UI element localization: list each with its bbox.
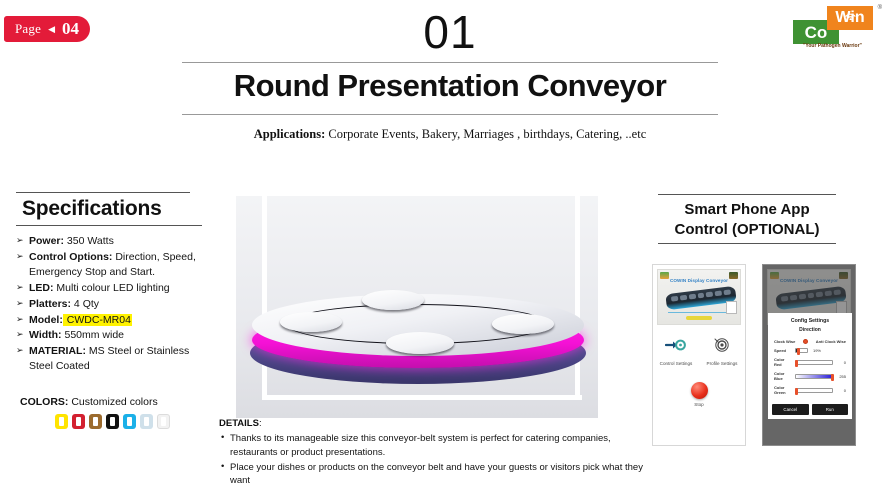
details-list: •Thanks to its manageable size this conv… [219, 432, 643, 488]
banner-qr-icon [726, 301, 737, 314]
config-slider-label: Speed [774, 348, 793, 353]
color-swatch[interactable] [55, 414, 68, 429]
app-section-heading: Smart Phone App Control (OPTIONAL) [658, 194, 836, 244]
modal-button-row: Cancel Run [772, 404, 848, 415]
specification-label: Model: [29, 314, 63, 326]
specification-value: 4 Qty [71, 298, 99, 310]
specification-label: Platters: [29, 298, 71, 310]
specification-label: MATERIAL: [29, 345, 86, 357]
specification-label: LED: [29, 282, 54, 294]
details-item: •Place your dishes or products on the co… [219, 461, 643, 489]
config-settings-modal: Config Settings Direction Clock Wise Ant… [768, 313, 852, 419]
profile-settings-label: Profile Settings [699, 361, 745, 366]
color-swatch-inner [59, 417, 64, 426]
arrow-bullet-icon: ➢ [16, 297, 24, 310]
page-badge-word: Page [15, 21, 41, 37]
page-title: Round Presentation Conveyor [180, 63, 720, 108]
prev-page-arrow-icon[interactable]: ◀ [48, 25, 55, 34]
logo-tagline: "Your Pathogen Warrior" [803, 43, 862, 49]
config-slider-row: Speed19% [772, 348, 848, 353]
specification-item: ➢Platters: 4 Qty [16, 297, 212, 312]
color-swatch[interactable] [123, 414, 136, 429]
conveyor-platter [386, 332, 454, 354]
clockwise-label[interactable]: Clock Wise [774, 339, 795, 344]
app-banner: COWIN Display Conveyor [657, 269, 741, 325]
color-swatch[interactable] [72, 414, 85, 429]
specification-item: ➢MATERIAL: MS Steel or Stainless Steel C… [16, 344, 212, 374]
applications-value: Corporate Events, Bakery, Marriages , bi… [328, 127, 646, 141]
config-slider-label: Color Red [774, 357, 793, 367]
details-colon: : [259, 418, 262, 429]
bullet-icon: • [221, 460, 224, 474]
conveyor-platter [362, 290, 424, 310]
colors-line: COLORS: Customized colors [20, 396, 220, 408]
page-badge-number: 04 [62, 19, 79, 39]
arrow-into-gear-icon [665, 340, 687, 357]
config-slider-knob[interactable] [831, 374, 834, 381]
specification-value: 550mm wide [62, 329, 124, 341]
arrow-bullet-icon: ➢ [16, 313, 24, 326]
specification-item: ➢Control Options: Direction, Speed, Emer… [16, 250, 212, 280]
config-slider-row: Color Green0 [772, 385, 848, 395]
config-slider-value: 0 [835, 388, 846, 393]
arrow-bullet-icon: ➢ [16, 281, 24, 294]
app-tile-row: Control Settings Profile Settings [653, 333, 745, 368]
color-swatch[interactable] [157, 414, 170, 429]
config-slider-value: 255 [835, 374, 846, 379]
colors-section: COLORS: Customized colors [20, 396, 220, 429]
bullet-icon: • [221, 431, 224, 445]
specifications-rule-bottom [16, 225, 202, 226]
registered-trademark-icon: ® [878, 5, 882, 11]
color-swatch-inner [161, 417, 166, 426]
app-banner-title: COWIN Display Conveyor [658, 278, 740, 283]
stop-button-label: Stop [653, 402, 745, 407]
color-swatch-inner [110, 417, 115, 426]
config-slider-label: Color Green [774, 385, 793, 395]
color-swatch[interactable] [89, 414, 102, 429]
config-slider-track[interactable] [795, 388, 833, 393]
config-slider-label: Color Blue [774, 371, 793, 381]
config-slider-row: Color Blue255 [772, 371, 848, 381]
specifications-panel: Specifications ➢Power: 350 Watts➢Control… [16, 192, 212, 375]
control-settings-label: Control Settings [653, 361, 699, 366]
conveyor-platter [280, 312, 342, 332]
banner-underline [668, 312, 732, 313]
arrow-bullet-icon: ➢ [16, 344, 24, 357]
specification-item: ➢LED: Multi colour LED lighting [16, 281, 212, 296]
specification-item: ➢Power: 350 Watts [16, 234, 212, 249]
run-button[interactable]: Run [812, 404, 849, 415]
conveyor-illustration [250, 292, 586, 388]
color-swatch[interactable] [140, 414, 153, 429]
config-slider-list: Speed19%Color Red0Color Blue255Color Gre… [772, 348, 848, 395]
section-number: 01 [180, 8, 720, 56]
phone-screenshot-config: COWIN Display Conveyor Config Settings D… [762, 264, 856, 446]
specification-label: Width: [29, 329, 62, 341]
direction-radio-selected[interactable] [803, 339, 808, 344]
banner-pill [686, 316, 712, 320]
logo-co-text: Co [805, 24, 828, 41]
arrow-bullet-icon: ➢ [16, 234, 24, 247]
product-image [236, 196, 598, 418]
config-slider-value: 19% [810, 348, 821, 353]
details-item-text: Place your dishes or products on the con… [230, 462, 643, 487]
colors-value: Customized colors [68, 396, 157, 408]
color-swatch-row [20, 414, 220, 429]
colors-label: COLORS: [20, 396, 68, 408]
app-heading-rule-bottom [658, 243, 836, 244]
anticlockwise-label[interactable]: Anti Clock Wise [816, 339, 846, 344]
specification-item: ➢Model: CWDC-MR04 [16, 313, 212, 328]
color-swatch-inner [76, 417, 81, 426]
config-modal-title: Config Settings [772, 318, 848, 324]
config-slider-knob[interactable] [795, 388, 798, 395]
specification-value: 350 Watts [64, 235, 114, 247]
config-slider-knob[interactable] [797, 348, 800, 355]
control-settings-tile[interactable]: Control Settings [653, 333, 699, 368]
specification-label: Power: [29, 235, 64, 247]
config-slider-row: Color Red0 [772, 357, 848, 367]
config-slider-value: 0 [835, 360, 846, 365]
app-heading-line1: Smart Phone App [658, 200, 836, 220]
details-item-text: Thanks to its manageable size this conve… [230, 433, 611, 458]
config-modal-subtitle: Direction [772, 327, 848, 333]
config-slider-track[interactable] [795, 360, 833, 365]
specification-item: ➢Width: 550mm wide [16, 328, 212, 343]
specification-label: Control Options: [29, 251, 112, 263]
direction-radio-row: Clock Wise Anti Clock Wise [772, 339, 848, 344]
config-slider-knob[interactable] [795, 360, 798, 367]
profile-gear-icon [711, 340, 733, 357]
header-rule-bottom [182, 114, 718, 115]
profile-settings-tile[interactable]: Profile Settings [699, 333, 745, 368]
phone-screenshot-home: COWIN Display Conveyor Control Settings [652, 264, 746, 446]
color-swatch-inner [144, 417, 149, 426]
conveyor-platter [492, 314, 554, 334]
wifi-signal-icon [845, 7, 856, 25]
color-swatch-inner [127, 417, 132, 426]
details-item: •Thanks to its manageable size this conv… [219, 432, 643, 460]
cancel-button[interactable]: Cancel [772, 404, 809, 415]
page-header: 01 Round Presentation Conveyor Applicati… [180, 8, 720, 142]
color-swatch[interactable] [106, 414, 119, 429]
stop-button-group[interactable]: Stop [653, 382, 745, 407]
app-heading-line2: Control (OPTIONAL) [658, 220, 836, 240]
config-slider-track[interactable] [795, 348, 808, 353]
color-swatch-inner [93, 417, 98, 426]
specification-value: Multi colour LED lighting [54, 282, 170, 294]
page-badge: Page ◀ 04 [4, 16, 90, 42]
specifications-heading: Specifications [16, 193, 212, 225]
arrow-bullet-icon: ➢ [16, 250, 24, 263]
applications-label: Applications: [254, 127, 326, 141]
cowin-logo: Co Win ® "Your Pathogen Warrior" [787, 4, 883, 48]
applications-line: Applications: Corporate Events, Bakery, … [180, 127, 720, 142]
arrow-bullet-icon: ➢ [16, 328, 24, 341]
config-slider-fill [796, 375, 832, 378]
stop-button-icon[interactable] [691, 382, 708, 399]
config-slider-track[interactable] [795, 374, 833, 379]
details-title: DETAILS [219, 418, 259, 429]
specifications-list: ➢Power: 350 Watts➢Control Options: Direc… [16, 234, 212, 374]
specification-value-highlighted: CWDC-MR04 [63, 314, 132, 326]
details-section: DETAILS: •Thanks to its manageable size … [219, 418, 643, 489]
image-frame-bottom [262, 395, 582, 400]
